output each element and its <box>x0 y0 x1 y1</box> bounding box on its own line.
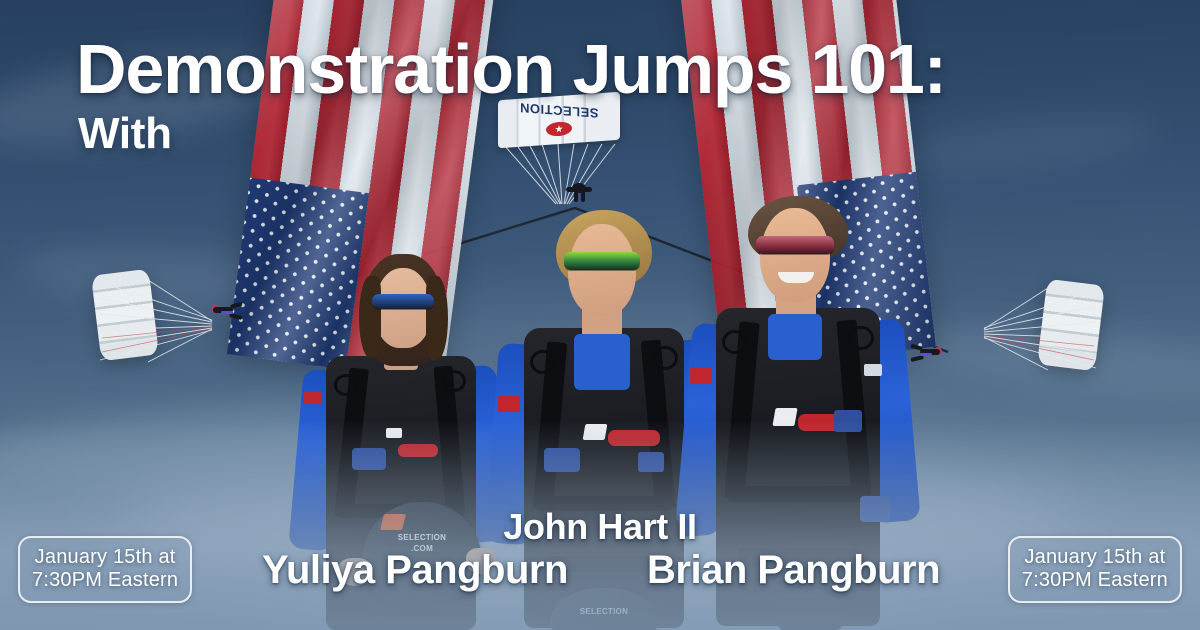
patch-blue-emblem <box>544 448 580 472</box>
badge-left-time: 7:30PM Eastern <box>32 569 178 592</box>
inner-shirt <box>574 334 630 390</box>
harness-ring-right <box>848 326 874 350</box>
inner-shirt <box>768 314 822 360</box>
patch-white-chest <box>386 428 402 438</box>
hair-side-left <box>359 276 381 358</box>
harness-ring-left <box>334 374 358 396</box>
parachute-lines-right <box>910 284 1100 394</box>
sunglasses <box>372 294 434 309</box>
chest-strap <box>728 486 870 502</box>
presenter-name-left: Yuliya Pangburn <box>262 548 568 593</box>
patch-white-chest <box>772 408 797 426</box>
patch-blue-chevron <box>834 410 862 432</box>
harness-ring-left <box>722 330 748 354</box>
badge-right-time: 7:30PM Eastern <box>1022 569 1168 592</box>
patch-white-chest <box>583 424 608 440</box>
page-subtitle: With <box>78 112 172 156</box>
patch-astra-logo <box>608 430 660 446</box>
event-datetime-badge-left: January 15th at 7:30PM Eastern <box>18 536 192 603</box>
event-datetime-badge-right: January 15th at 7:30PM Eastern <box>1008 536 1182 603</box>
presenter-name-right: Brian Pangburn <box>647 548 940 593</box>
badge-right-date: January 15th at <box>1024 546 1165 568</box>
sunglasses <box>756 236 834 254</box>
patch-red-shoulder <box>304 392 322 404</box>
event-promo-poster: SELECTION <box>0 0 1200 630</box>
parachute-lines-left <box>96 276 286 386</box>
harness-ring-left <box>530 350 556 374</box>
face <box>760 208 830 302</box>
patch-blue-emblem <box>352 448 386 470</box>
patch-red-shoulder <box>690 368 712 384</box>
cloud-wisp <box>898 107 1162 182</box>
patch-flag-arm <box>864 364 882 376</box>
sunglasses <box>564 252 640 270</box>
hair-side-right <box>426 276 448 360</box>
page-title: Demonstration Jumps 101: <box>76 34 1176 104</box>
smile <box>778 272 814 283</box>
skydiver-silhouette-left <box>208 300 248 324</box>
patch-red-logo <box>398 444 438 457</box>
badge-left-date: January 15th at <box>35 546 176 568</box>
face <box>568 224 636 316</box>
patch-blue-chevron <box>638 452 664 472</box>
patch-red-shoulder <box>498 396 520 412</box>
harness-ring-right <box>442 370 466 392</box>
helmet-secondary-brand: SELECTION <box>550 608 658 616</box>
harness-ring-right <box>652 346 678 370</box>
